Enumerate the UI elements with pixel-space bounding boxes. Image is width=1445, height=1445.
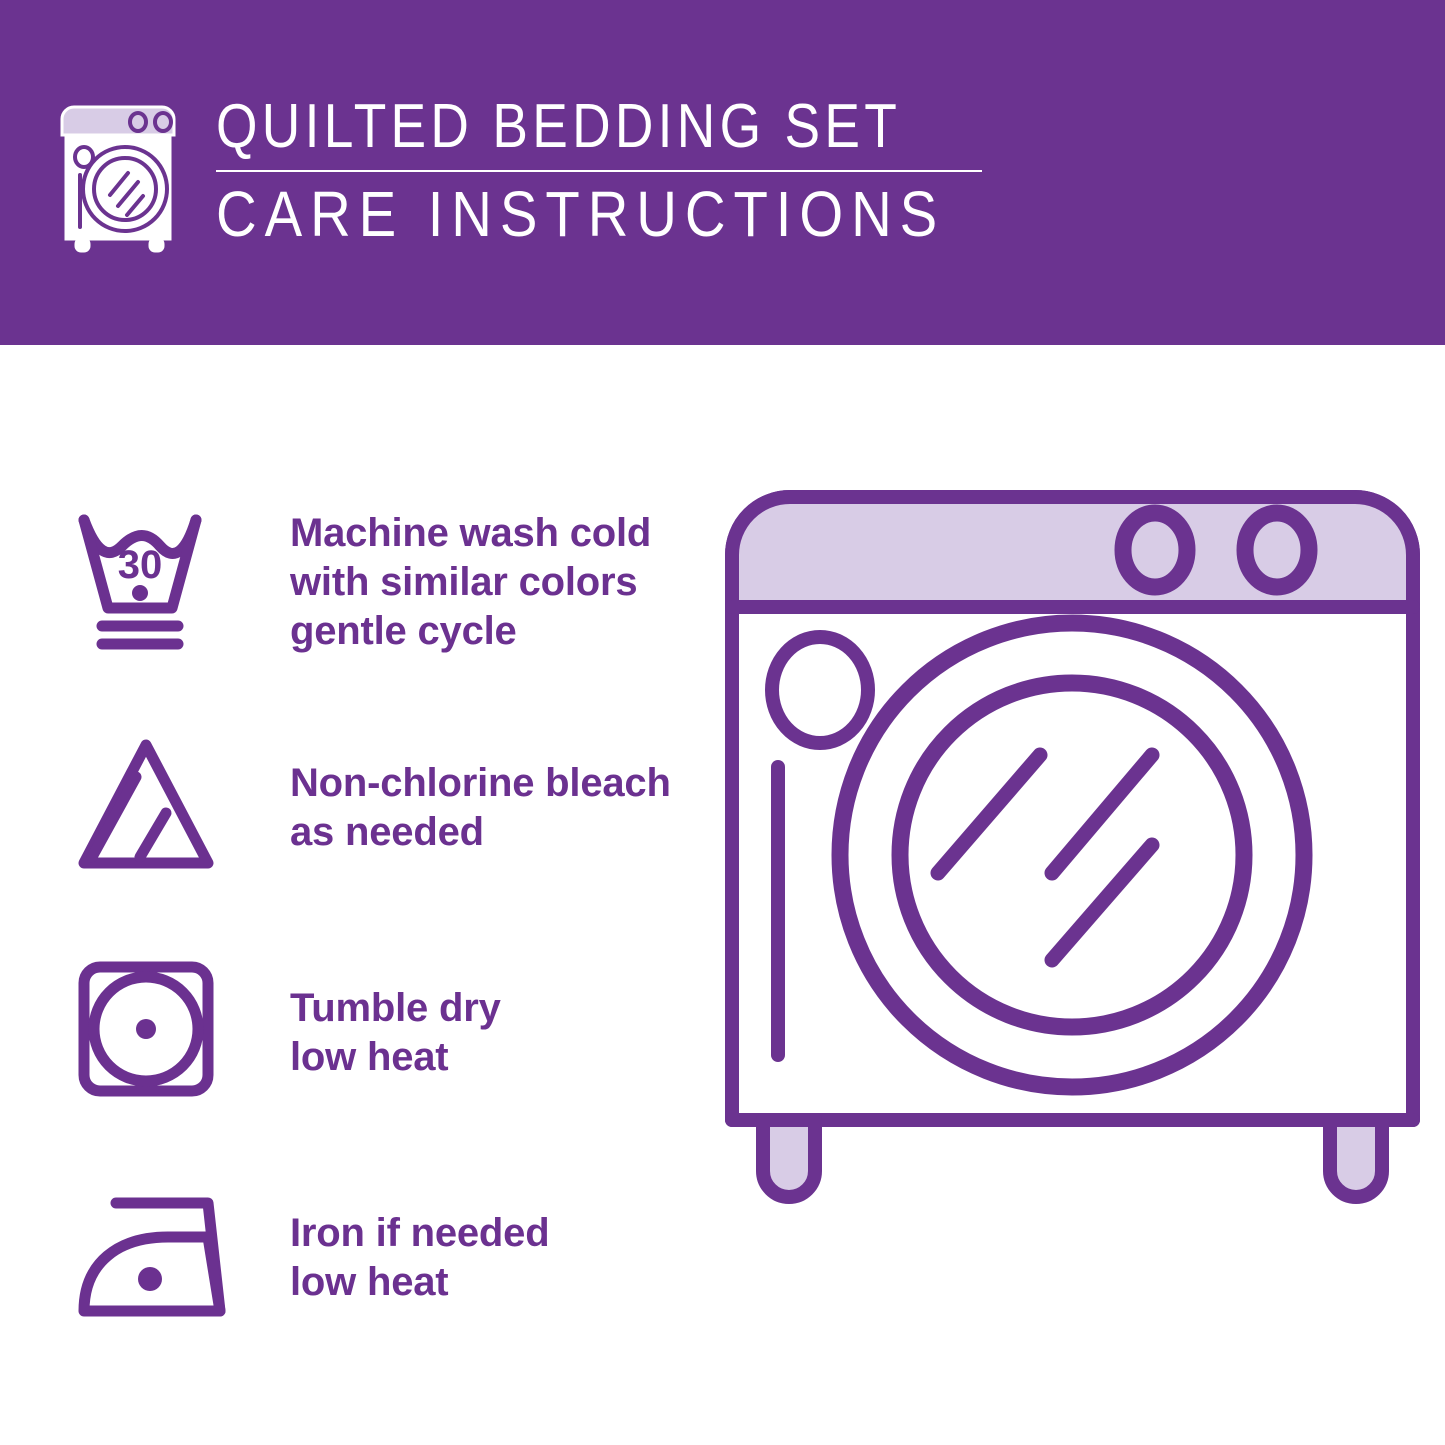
header-content: QUILTED BEDDING SET CARE INSTRUCTIONS: [60, 95, 1045, 253]
header-title-group: QUILTED BEDDING SET CARE INSTRUCTIONS: [216, 95, 1045, 248]
care-text: Machine wash cold with similar colors ge…: [290, 509, 651, 655]
care-text: Tumble dry low heat: [290, 984, 501, 1082]
machine-leg-left: [763, 1120, 815, 1197]
wash-tub-30-icon: 30: [74, 508, 234, 658]
tumble-dry-low-icon: [74, 957, 226, 1109]
control-knob-right[interactable]: [1245, 513, 1309, 587]
care-icon-cell: [60, 1193, 290, 1323]
washing-machine-illustration: [700, 455, 1445, 1385]
iron-low-heat-icon: [74, 1193, 246, 1323]
washing-machine-icon: [60, 103, 188, 253]
title-divider: [216, 170, 982, 172]
care-row: Tumble dry low heat: [60, 920, 700, 1145]
care-row: Non-chlorine bleach as needed: [60, 695, 700, 920]
header-banner: QUILTED BEDDING SET CARE INSTRUCTIONS: [0, 0, 1445, 345]
page-subtitle: CARE INSTRUCTIONS: [216, 182, 945, 247]
machine-leg-right: [1330, 1120, 1382, 1197]
non-chlorine-bleach-triangle-icon: [74, 735, 234, 880]
washing-machine-graphic: [700, 455, 1445, 1385]
care-row: Iron if needed low heat: [60, 1145, 700, 1370]
care-text: Non-chlorine bleach as needed: [290, 759, 671, 857]
control-knob-left[interactable]: [1123, 513, 1187, 587]
care-row: 30 Machine wash cold with similar colors…: [60, 470, 700, 695]
wash-temperature-label: 30: [118, 543, 163, 587]
care-icon-cell: [60, 735, 290, 880]
page-title: QUILTED BEDDING SET: [216, 95, 901, 158]
care-text: Iron if needed low heat: [290, 1209, 549, 1307]
care-instruction-list: 30 Machine wash cold with similar colors…: [60, 470, 700, 1370]
content-area: 30 Machine wash cold with similar colors…: [0, 345, 1445, 1445]
care-icon-cell: [60, 957, 290, 1109]
care-icon-cell: 30: [60, 508, 290, 658]
